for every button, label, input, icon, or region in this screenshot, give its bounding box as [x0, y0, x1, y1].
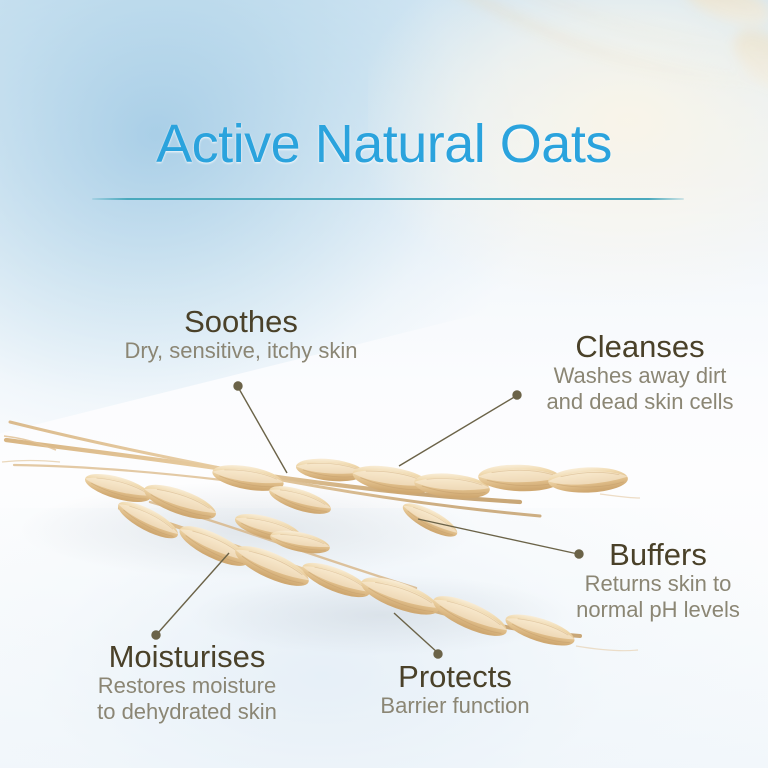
callout-soothes-headline: Soothes	[96, 305, 386, 338]
callout-soothes-subline-1: Dry, sensitive, itchy skin	[96, 338, 386, 364]
leader-dot-moisturises	[152, 631, 160, 639]
callout-moisturises-subline-2: to dehydrated skin	[42, 699, 332, 725]
callout-buffers-subline-1: Returns skin to	[546, 571, 768, 597]
callout-protects-subline-1: Barrier function	[340, 693, 570, 719]
leader-line-cleanses	[399, 396, 516, 466]
leader-line-protects	[394, 613, 438, 653]
callout-soothes: Soothes Dry, sensitive, itchy skin	[96, 305, 386, 364]
page-title: Active Natural Oats	[0, 116, 768, 173]
infographic-poster: Active Natural Oats	[0, 0, 768, 768]
callout-protects: Protects Barrier function	[340, 660, 570, 719]
callout-moisturises: Moisturises Restores moisture to dehydra…	[42, 640, 332, 725]
callout-buffers-subline-2: normal pH levels	[546, 597, 768, 623]
leader-dot-soothes	[234, 382, 242, 390]
leader-line-moisturises	[157, 553, 229, 634]
callout-protects-headline: Protects	[340, 660, 570, 693]
leader-line-soothes	[238, 387, 287, 473]
page-title-block: Active Natural Oats	[0, 116, 768, 173]
callout-moisturises-headline: Moisturises	[42, 640, 332, 673]
background-haze-upper-left	[0, 0, 558, 449]
callout-cleanses-subline-1: Washes away dirt	[506, 363, 768, 389]
title-divider-rule	[92, 198, 684, 200]
callout-cleanses-subline-2: and dead skin cells	[506, 389, 768, 415]
callout-cleanses-headline: Cleanses	[506, 330, 768, 363]
blurred-oat-stems-decoration	[368, 0, 768, 130]
leader-dot-protects	[434, 650, 442, 658]
callout-buffers: Buffers Returns skin to normal pH levels	[546, 538, 768, 623]
callout-cleanses: Cleanses Washes away dirt and dead skin …	[506, 330, 768, 415]
callout-buffers-headline: Buffers	[546, 538, 768, 571]
callout-moisturises-subline-1: Restores moisture	[42, 673, 332, 699]
